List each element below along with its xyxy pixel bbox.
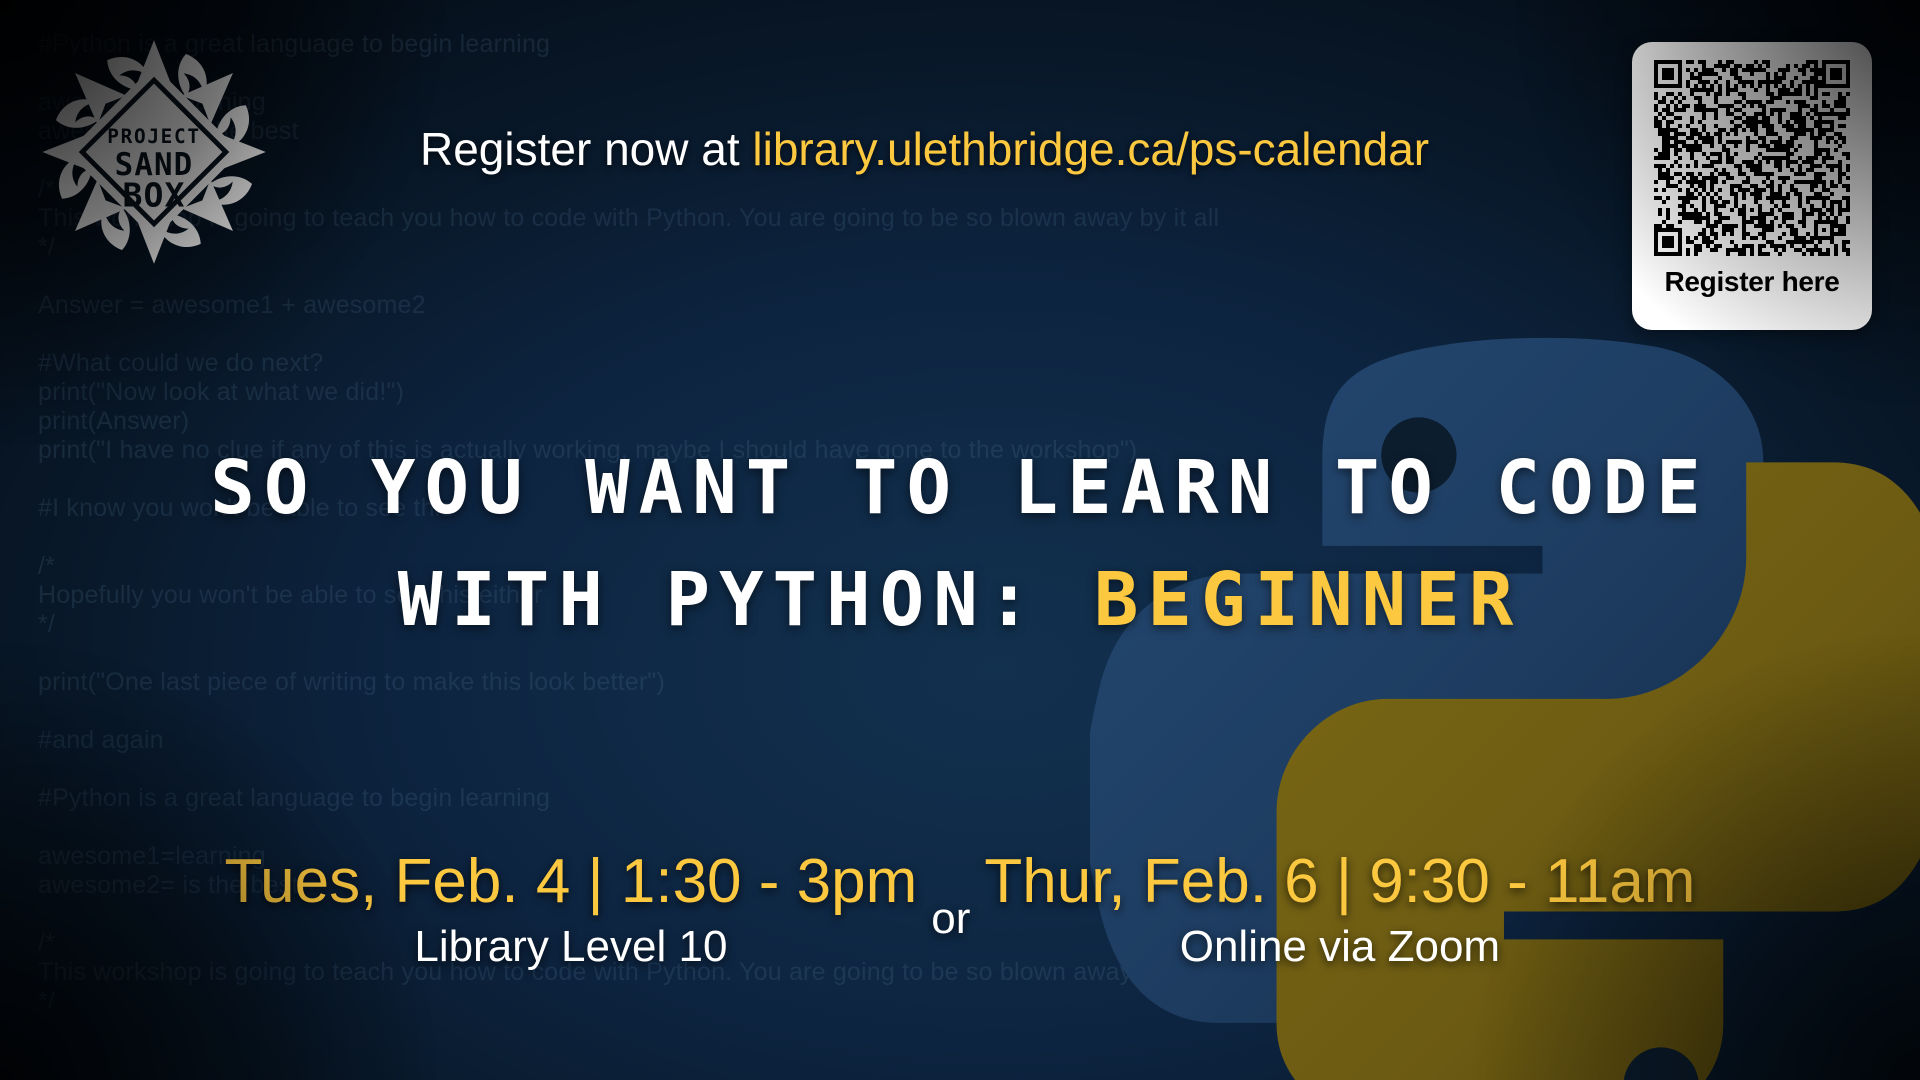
background-code-line	[38, 813, 1538, 842]
poster-title-block: SO YOU WANT TO LEARN TO CODE WITH PYTHON…	[0, 432, 1920, 656]
background-code-line	[38, 755, 1538, 784]
session-1-datetime: Tues, Feb. 4 | 1:30 - 3pm	[225, 846, 918, 918]
background-code-line: #and again	[38, 726, 1538, 755]
logo-text-box: BOX	[122, 176, 185, 215]
background-code-line: Answer = awesome1 + awesome2	[38, 291, 1538, 320]
background-code-line	[38, 320, 1538, 349]
session-1-location: Library Level 10	[225, 920, 918, 974]
background-code-line	[38, 697, 1538, 726]
qr-code-icon[interactable]	[1654, 60, 1850, 256]
register-url-link[interactable]: library.ulethbridge.ca/ps-calendar	[752, 123, 1429, 175]
background-code-line: #Python is a great language to begin lea…	[38, 784, 1538, 813]
project-sandbox-logo: PROJECT SAND BOX	[40, 38, 268, 266]
title-line-2-prefix: WITH PYTHON:	[398, 557, 1094, 643]
session-2-location: Online via Zoom	[984, 920, 1695, 974]
background-code-line: #What could we do next?	[38, 349, 1538, 378]
background-code-line	[38, 262, 1538, 291]
title-level-badge: BEGINNER	[1094, 557, 1522, 643]
qr-register-card[interactable]: Register here	[1632, 42, 1872, 330]
session-item-2: Thur, Feb. 6 | 9:30 - 11am Online via Zo…	[984, 846, 1695, 974]
session-item-1: Tues, Feb. 4 | 1:30 - 3pm Library Level …	[225, 846, 918, 974]
qr-caption-label: Register here	[1664, 266, 1839, 298]
session-2-datetime: Thur, Feb. 6 | 9:30 - 11am	[984, 846, 1695, 918]
background-code-line: print("Now look at what we did!")	[38, 378, 1538, 407]
background-code-line: print("One last piece of writing to make…	[38, 668, 1538, 697]
session-details: Tues, Feb. 4 | 1:30 - 3pm Library Level …	[0, 846, 1920, 974]
poster-canvas: #Python is a great language to begin lea…	[0, 0, 1920, 1080]
register-prefix-label: Register now at	[420, 123, 752, 175]
background-code-line: */	[38, 987, 1538, 1016]
title-line-1: SO YOU WANT TO LEARN TO CODE	[0, 432, 1920, 544]
session-divider-or: or	[931, 846, 970, 944]
title-line-2: WITH PYTHON: BEGINNER	[0, 544, 1920, 656]
register-call-to-action: Register now at library.ulethbridge.ca/p…	[420, 122, 1429, 176]
logo-text-project: PROJECT	[107, 125, 201, 148]
